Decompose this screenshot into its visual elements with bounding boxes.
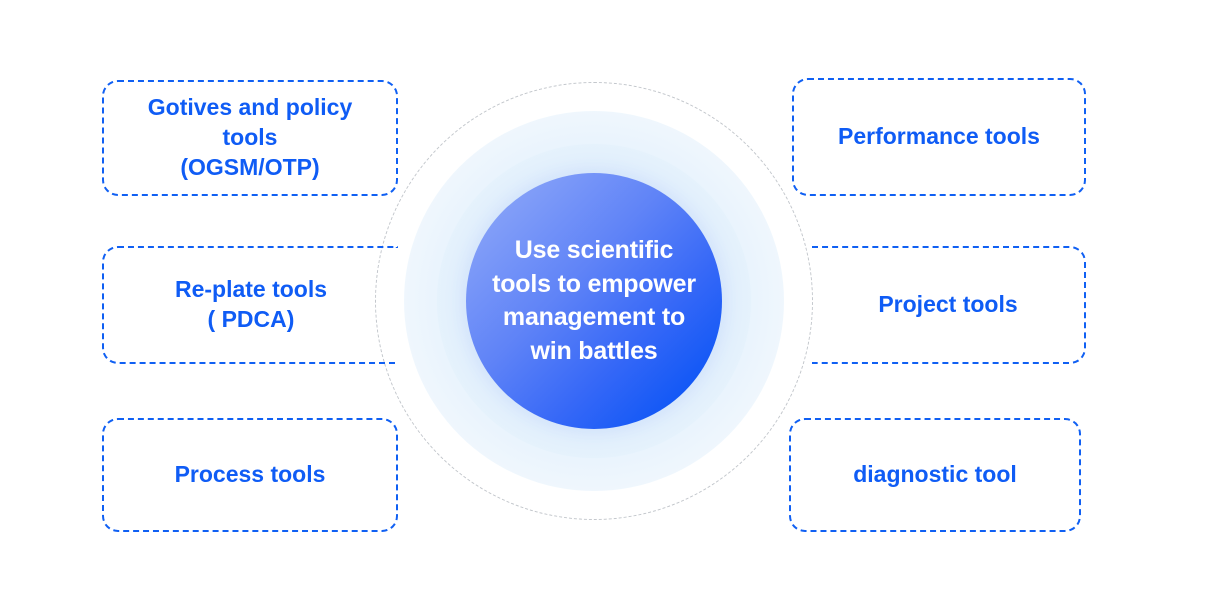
node-label: diagnostic tool: [839, 460, 1031, 490]
node-project-tools[interactable]: Project tools: [812, 246, 1086, 364]
center-hub: Use scientific tools to empower manageme…: [375, 82, 813, 520]
node-label: Re-plate tools ( PDCA): [161, 275, 341, 335]
diagram-canvas: Use scientific tools to empower manageme…: [0, 0, 1221, 616]
node-diagnostic-tool[interactable]: diagnostic tool: [789, 418, 1081, 532]
node-label: Process tools: [161, 460, 340, 490]
node-re-plate-tools[interactable]: Re-plate tools ( PDCA): [102, 246, 398, 364]
node-label: Performance tools: [824, 122, 1054, 152]
node-label: Gotives and policy tools (OGSM/OTP): [134, 93, 367, 183]
node-objectives-and-policy-tools[interactable]: Gotives and policy tools (OGSM/OTP): [102, 80, 398, 196]
node-label: Project tools: [864, 290, 1031, 320]
node-performance-tools[interactable]: Performance tools: [792, 78, 1086, 196]
node-process-tools[interactable]: Process tools: [102, 418, 398, 532]
core-circle[interactable]: Use scientific tools to empower manageme…: [466, 173, 722, 429]
core-circle-label: Use scientific tools to empower manageme…: [487, 234, 702, 368]
